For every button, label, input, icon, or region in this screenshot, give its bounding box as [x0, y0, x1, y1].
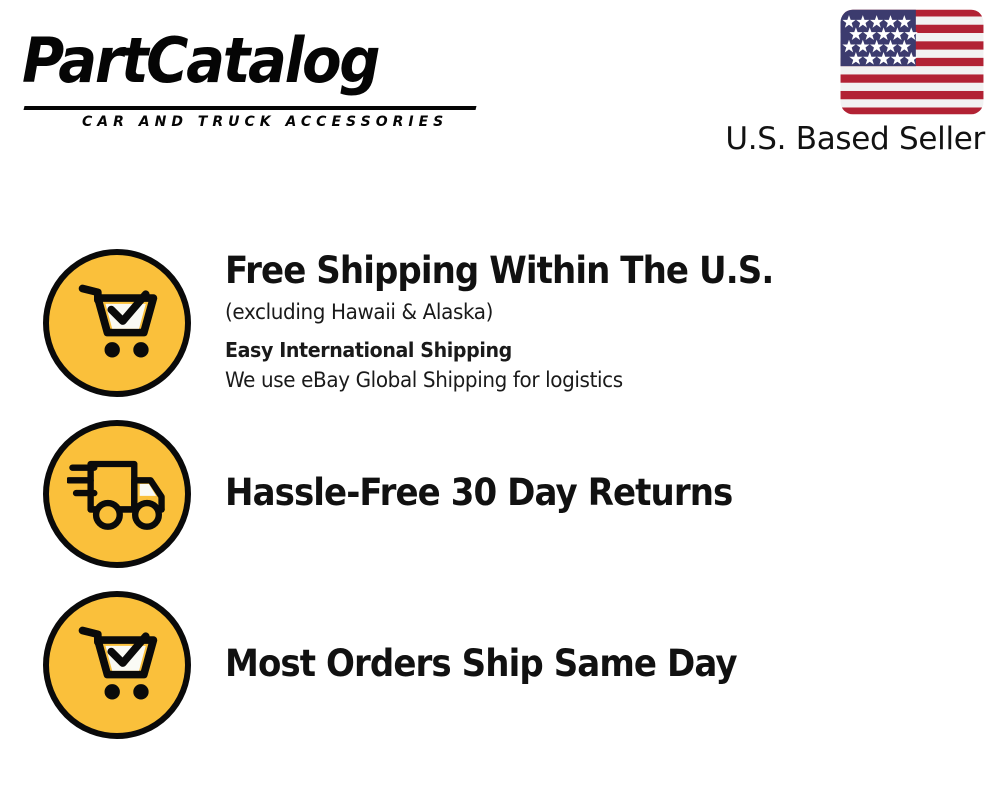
brand-underline-rule — [24, 106, 477, 110]
feature-title: Hassle-Free 30 Day Returns — [225, 471, 922, 515]
shopping-cart-check-icon — [69, 619, 165, 711]
feature-badge — [43, 249, 191, 397]
feature-badge — [43, 420, 191, 568]
feature-title: Free Shipping Within The U.S. — [225, 249, 922, 293]
feature-badge — [43, 591, 191, 739]
feature-subtitle-1: (excluding Hawaii & Alaska) — [225, 297, 945, 327]
feature-text-block: Hassle-Free 30 Day Returns — [191, 471, 983, 517]
us-based-seller-label: U.S. Based Seller — [715, 120, 985, 158]
brand-wordmark: PartCatalog — [22, 22, 378, 100]
feature-text-block: Most Orders Ship Same Day — [191, 642, 983, 688]
feature-row: Most Orders Ship Same Day — [43, 590, 983, 740]
us-based-seller-badge: U.S. Based Seller — [715, 8, 985, 158]
feature-subtitle-2: Easy International Shipping — [225, 335, 945, 365]
feature-text-block: Free Shipping Within The U.S. (excluding… — [191, 249, 983, 397]
feature-subtitle-3: We use eBay Global Shipping for logistic… — [225, 365, 945, 395]
feature-title: Most Orders Ship Same Day — [225, 642, 922, 686]
shopping-cart-check-icon — [69, 277, 165, 369]
brand-tagline: CAR AND TRUCK ACCESSORIES — [82, 114, 448, 130]
feature-row: Hassle-Free 30 Day Returns — [43, 419, 983, 569]
us-flag-icon — [839, 8, 985, 116]
delivery-truck-icon — [67, 453, 167, 535]
brand-logo[interactable]: PartCatalog CAR AND TRUCK ACCESSORIES — [22, 22, 492, 114]
feature-row: Free Shipping Within The U.S. (excluding… — [43, 248, 983, 398]
